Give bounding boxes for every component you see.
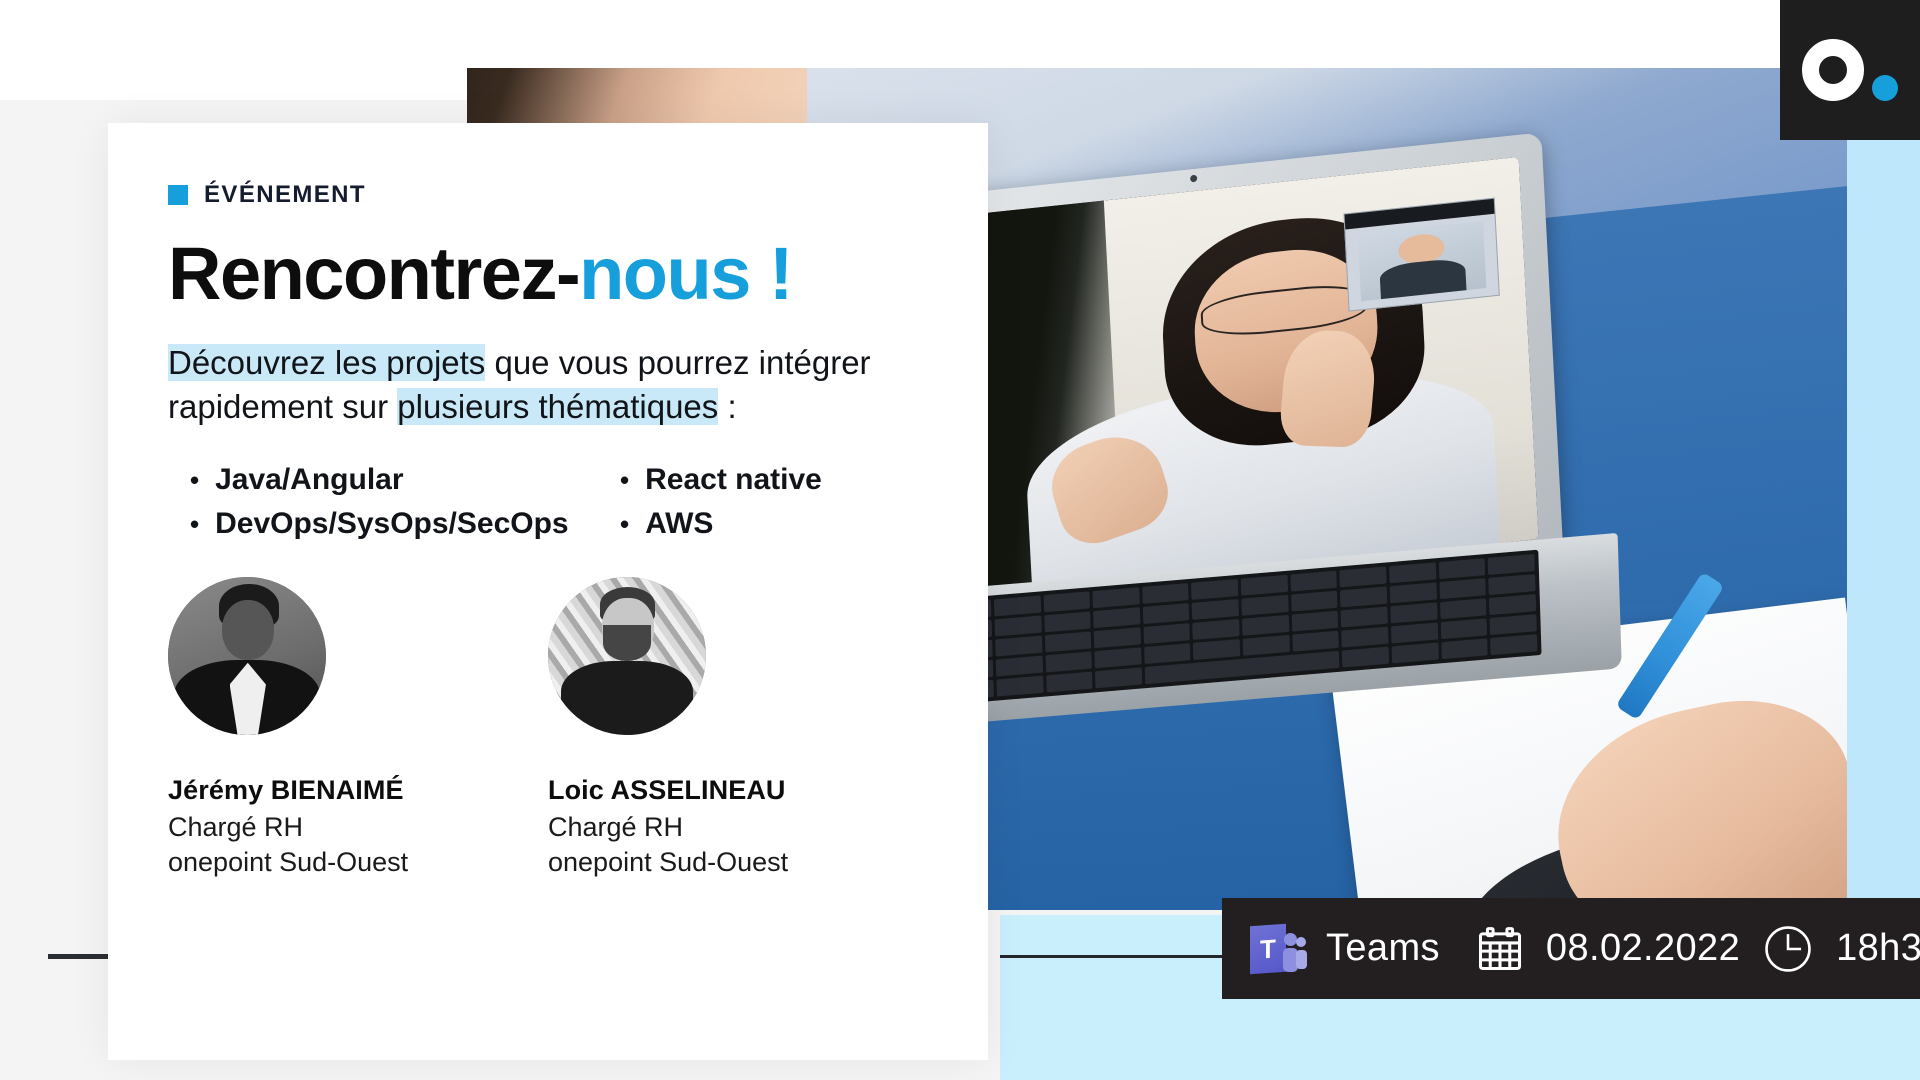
- speaker-name: Loic ASSELINEAU: [548, 775, 928, 806]
- event-date: 08.02.2022: [1546, 927, 1740, 970]
- calendar-icon: [1474, 923, 1526, 975]
- video-call-self-view: [1343, 198, 1499, 311]
- avatar: [548, 577, 706, 735]
- topic-label: Java/Angular: [215, 463, 403, 497]
- self-view-body: [1379, 257, 1466, 299]
- lede-highlight-2: plusieurs thématiques: [397, 388, 718, 425]
- speaker-name: Jérémy BIENAIMÉ: [168, 775, 548, 806]
- self-view-video: [1358, 221, 1487, 301]
- clock-icon: [1760, 921, 1816, 977]
- topic-item: •React native: [620, 463, 928, 497]
- topic-label: React native: [645, 463, 822, 497]
- speaker-role: Chargé RH: [168, 810, 548, 845]
- lede-paragraph: Découvrez les projets que vous pourrez i…: [168, 341, 898, 429]
- title-main: Rencontrez-: [168, 232, 579, 315]
- page-title: Rencontrez-nous !: [168, 237, 928, 311]
- speaker-card: Loic ASSELINEAU Chargé RH onepoint Sud-O…: [548, 577, 928, 879]
- event-info-bar: T Teams 08.02.2022: [1222, 898, 1920, 999]
- bullet-icon: •: [190, 511, 199, 537]
- event-poster: ÉVÉNEMENT Rencontrez-nous ! Découvrez le…: [0, 0, 1920, 1080]
- bullet-icon: •: [620, 467, 629, 493]
- lede-highlight-1: Découvrez les projets: [168, 344, 485, 381]
- logo-dot-icon: [1872, 75, 1898, 101]
- onepoint-logo: [1780, 0, 1920, 140]
- speaker-card: Jérémy BIENAIMÉ Chargé RH onepoint Sud-O…: [168, 577, 548, 879]
- avatar: [168, 577, 326, 735]
- event-time: 18h30: [1836, 927, 1920, 970]
- topic-item: •Java/Angular: [190, 463, 620, 497]
- bullet-icon: •: [620, 511, 629, 537]
- kicker: ÉVÉNEMENT: [168, 181, 928, 209]
- topic-label: DevOps/SysOps/SecOps: [215, 507, 569, 541]
- speaker-org: onepoint Sud-Ouest: [168, 845, 548, 880]
- bullet-icon: •: [190, 467, 199, 493]
- teams-logo-icon: T: [1250, 921, 1306, 977]
- speaker-role: Chargé RH: [548, 810, 928, 845]
- logo-ring-icon: [1802, 39, 1864, 101]
- kicker-label: ÉVÉNEMENT: [204, 181, 366, 209]
- content-card: ÉVÉNEMENT Rencontrez-nous ! Découvrez le…: [108, 123, 988, 1060]
- teams-letter: T: [1250, 923, 1286, 974]
- speaker-org: onepoint Sud-Ouest: [548, 845, 928, 880]
- topic-item: •DevOps/SysOps/SecOps: [190, 507, 620, 541]
- kicker-square-icon: [168, 185, 188, 205]
- topics-list: •Java/Angular •React native •DevOps/SysO…: [190, 463, 928, 541]
- laptop-webcam-icon: [1190, 175, 1197, 183]
- platform-label: Teams: [1326, 927, 1440, 970]
- topic-label: AWS: [645, 507, 713, 541]
- speakers-list: Jérémy BIENAIMÉ Chargé RH onepoint Sud-O…: [168, 577, 928, 879]
- lede-plain-2: :: [718, 388, 736, 425]
- title-accent: nous !: [579, 232, 792, 315]
- topic-item: •AWS: [620, 507, 928, 541]
